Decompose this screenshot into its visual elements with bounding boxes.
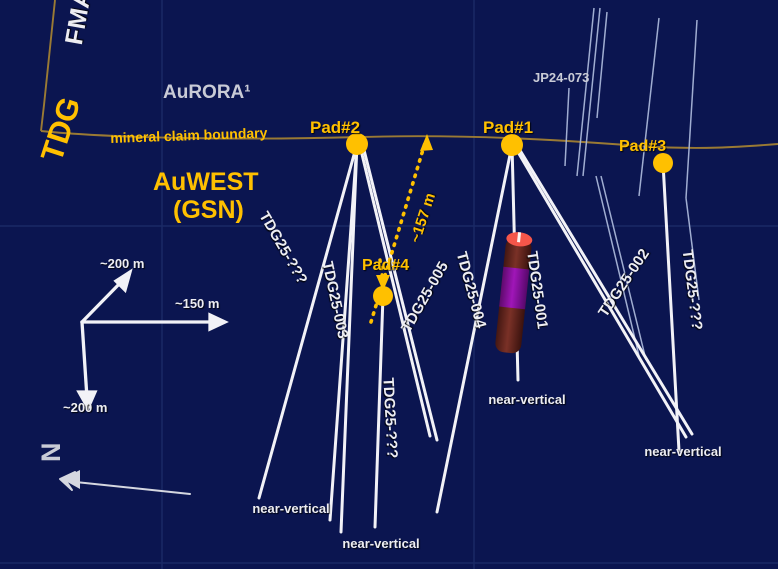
historic-drill-traces	[565, 8, 699, 360]
map-canvas	[0, 0, 778, 569]
drill-traces-pad1	[437, 145, 692, 512]
scale-bar	[79, 272, 225, 408]
core-cylinder-tdg25-001	[494, 231, 533, 354]
drill-traces-pad3	[663, 163, 679, 451]
drill-plan-map: FMAR AuRORA¹ TDG AuWEST (GSN) mineral cl…	[0, 0, 778, 569]
north-arrow	[60, 470, 190, 494]
pad-marker-pad2	[346, 133, 368, 155]
pad-marker-pad1	[501, 134, 523, 156]
drill-traces-pad4	[375, 296, 383, 527]
pad-marker-pad4	[373, 286, 393, 306]
drill-traces-pad2	[259, 144, 437, 532]
pad-marker-pad3	[653, 153, 673, 173]
mineral-claim-boundary	[41, 0, 778, 148]
